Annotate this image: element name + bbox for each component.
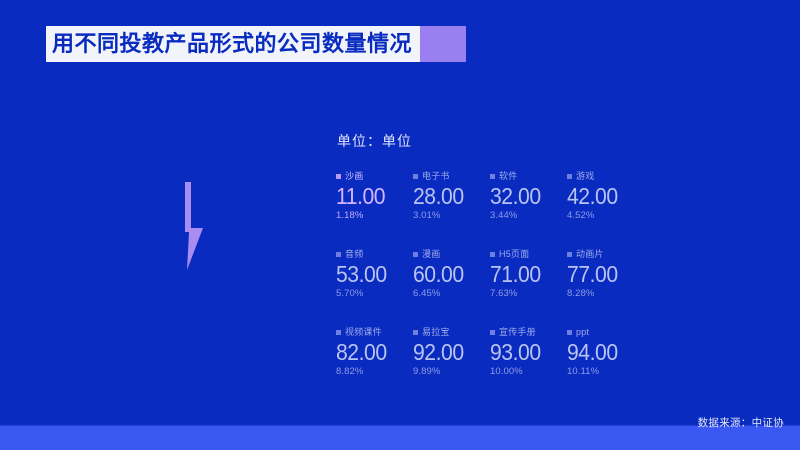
metric-card[interactable]: 游戏 42.00 4.52% [567, 170, 644, 248]
metric-header: 易拉宝 [413, 326, 490, 338]
metric-label: H5页面 [499, 250, 529, 259]
metric-header: 视频课件 [336, 326, 413, 338]
square-bullet-icon [413, 174, 418, 179]
metric-value: 77.00 [567, 262, 638, 286]
square-bullet-icon [490, 330, 495, 335]
metric-percent: 5.70% [336, 289, 413, 299]
metric-percent: 4.52% [567, 211, 644, 221]
square-bullet-icon [567, 330, 572, 335]
lightning-bolt-icon [181, 182, 211, 270]
metric-header: H5页面 [490, 248, 567, 260]
metric-label: ppt [576, 328, 589, 337]
metric-percent: 3.01% [413, 211, 490, 221]
metric-percent: 10.11% [567, 367, 644, 377]
metric-label: 视频课件 [345, 328, 382, 337]
metric-value: 11.00 [336, 184, 407, 208]
metric-percent: 7.63% [490, 289, 567, 299]
metric-header: 沙画 [336, 170, 413, 182]
metric-header: 动画片 [567, 248, 644, 260]
metric-header: 音频 [336, 248, 413, 260]
square-bullet-icon [490, 252, 495, 257]
square-bullet-icon [336, 330, 341, 335]
metric-percent: 9.89% [413, 367, 490, 377]
metric-card[interactable]: 动画片 77.00 8.28% [567, 248, 644, 326]
metric-value: 32.00 [490, 184, 561, 208]
metric-header: 游戏 [567, 170, 644, 182]
metric-header: ppt [567, 326, 644, 338]
metric-label: 软件 [499, 172, 517, 181]
square-bullet-icon [567, 174, 572, 179]
metric-card[interactable]: 电子书 28.00 3.01% [413, 170, 490, 248]
metric-label: 宣传手册 [499, 328, 536, 337]
metric-percent: 6.45% [413, 289, 490, 299]
metric-label: 动画片 [576, 250, 604, 259]
metric-card[interactable]: 宣传手册 93.00 10.00% [490, 326, 567, 404]
square-bullet-icon [336, 252, 341, 257]
metric-value: 93.00 [490, 340, 561, 364]
metric-value: 28.00 [413, 184, 484, 208]
metric-header: 软件 [490, 170, 567, 182]
metric-card[interactable]: 音频 53.00 5.70% [336, 248, 413, 326]
metric-value: 53.00 [336, 262, 407, 286]
metric-card[interactable]: 漫画 60.00 6.45% [413, 248, 490, 326]
metric-value: 94.00 [567, 340, 638, 364]
metric-card[interactable]: 软件 32.00 3.44% [490, 170, 567, 248]
slide-canvas: 用不同投教产品形式的公司数量情况 单位：单位 沙画 11.00 1.18% 电子… [0, 0, 800, 450]
metric-percent: 1.18% [336, 211, 413, 221]
square-bullet-icon [336, 174, 341, 179]
metric-value: 82.00 [336, 340, 407, 364]
metric-label: 沙画 [345, 172, 363, 181]
metric-percent: 8.28% [567, 289, 644, 299]
metric-value: 92.00 [413, 340, 484, 364]
metric-label: 易拉宝 [422, 328, 450, 337]
data-source-label: 数据来源：中证协 [698, 415, 784, 430]
metric-label: 游戏 [576, 172, 594, 181]
metric-percent: 3.44% [490, 211, 567, 221]
metric-label: 漫画 [422, 250, 440, 259]
metric-label: 音频 [345, 250, 363, 259]
square-bullet-icon [490, 174, 495, 179]
unit-label: 单位：单位 [337, 131, 412, 151]
metric-value: 71.00 [490, 262, 561, 286]
square-bullet-icon [413, 252, 418, 257]
metric-percent: 10.00% [490, 367, 567, 377]
metric-value: 60.00 [413, 262, 484, 286]
metric-grid: 沙画 11.00 1.18% 电子书 28.00 3.01% 软件 32.00 … [336, 170, 636, 404]
metric-card[interactable]: 沙画 11.00 1.18% [336, 170, 413, 248]
metric-label: 电子书 [422, 172, 450, 181]
metric-header: 漫画 [413, 248, 490, 260]
metric-card[interactable]: 易拉宝 92.00 9.89% [413, 326, 490, 404]
slide-title-bar: 用不同投教产品形式的公司数量情况 [46, 26, 466, 62]
square-bullet-icon [567, 252, 572, 257]
square-bullet-icon [413, 330, 418, 335]
metric-card[interactable]: H5页面 71.00 7.63% [490, 248, 567, 326]
metric-percent: 8.82% [336, 367, 413, 377]
metric-header: 宣传手册 [490, 326, 567, 338]
footer-band [0, 426, 800, 450]
metric-header: 电子书 [413, 170, 490, 182]
metric-card[interactable]: ppt 94.00 10.11% [567, 326, 644, 404]
title-strip: 用不同投教产品形式的公司数量情况 [46, 26, 420, 62]
metric-card[interactable]: 视频课件 82.00 8.82% [336, 326, 413, 404]
title-accent-block [420, 26, 466, 62]
page-title: 用不同投教产品形式的公司数量情况 [52, 33, 412, 55]
metric-value: 42.00 [567, 184, 638, 208]
